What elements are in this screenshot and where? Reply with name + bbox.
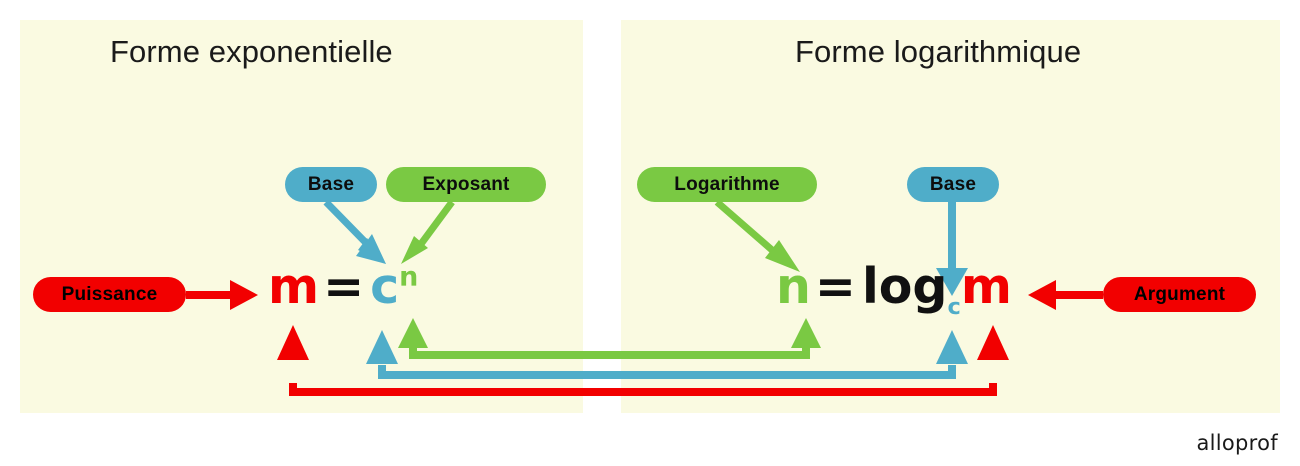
formula-term-base: c (370, 258, 399, 315)
alloprof-logo: alloprof (1196, 431, 1278, 455)
panel-forme-exponentielle (20, 20, 583, 413)
formula-equals-sign: = (319, 258, 370, 315)
panel-forme-logarithmique (621, 20, 1280, 413)
formula-term-logarithm: n (776, 258, 811, 315)
formula-operator-log: log (862, 258, 948, 315)
formula-term-base: c (948, 294, 961, 320)
page-title-logarithmique: Forme logarithmique (795, 34, 1081, 70)
formula-logarithmique: n=logcm (776, 262, 1012, 311)
formula-term-exponent: n (399, 262, 418, 293)
label-pill-logarithme[interactable]: Logarithme (637, 167, 817, 202)
label-pill-puissance[interactable]: Puissance (33, 277, 186, 312)
formula-term-argument: m (961, 258, 1012, 315)
formula-exponentielle: m=cn (268, 262, 418, 311)
label-pill-base-logarithmique[interactable]: Base (907, 167, 999, 202)
diagram-canvas: Forme exponentielle Forme logarithmique (0, 0, 1300, 466)
formula-term-power: m (268, 258, 319, 315)
label-pill-argument[interactable]: Argument (1103, 277, 1256, 312)
formula-equals-sign: = (811, 258, 862, 315)
label-pill-exposant[interactable]: Exposant (386, 167, 546, 202)
page-title-exponentielle: Forme exponentielle (110, 34, 393, 70)
label-pill-base-exponentielle[interactable]: Base (285, 167, 377, 202)
